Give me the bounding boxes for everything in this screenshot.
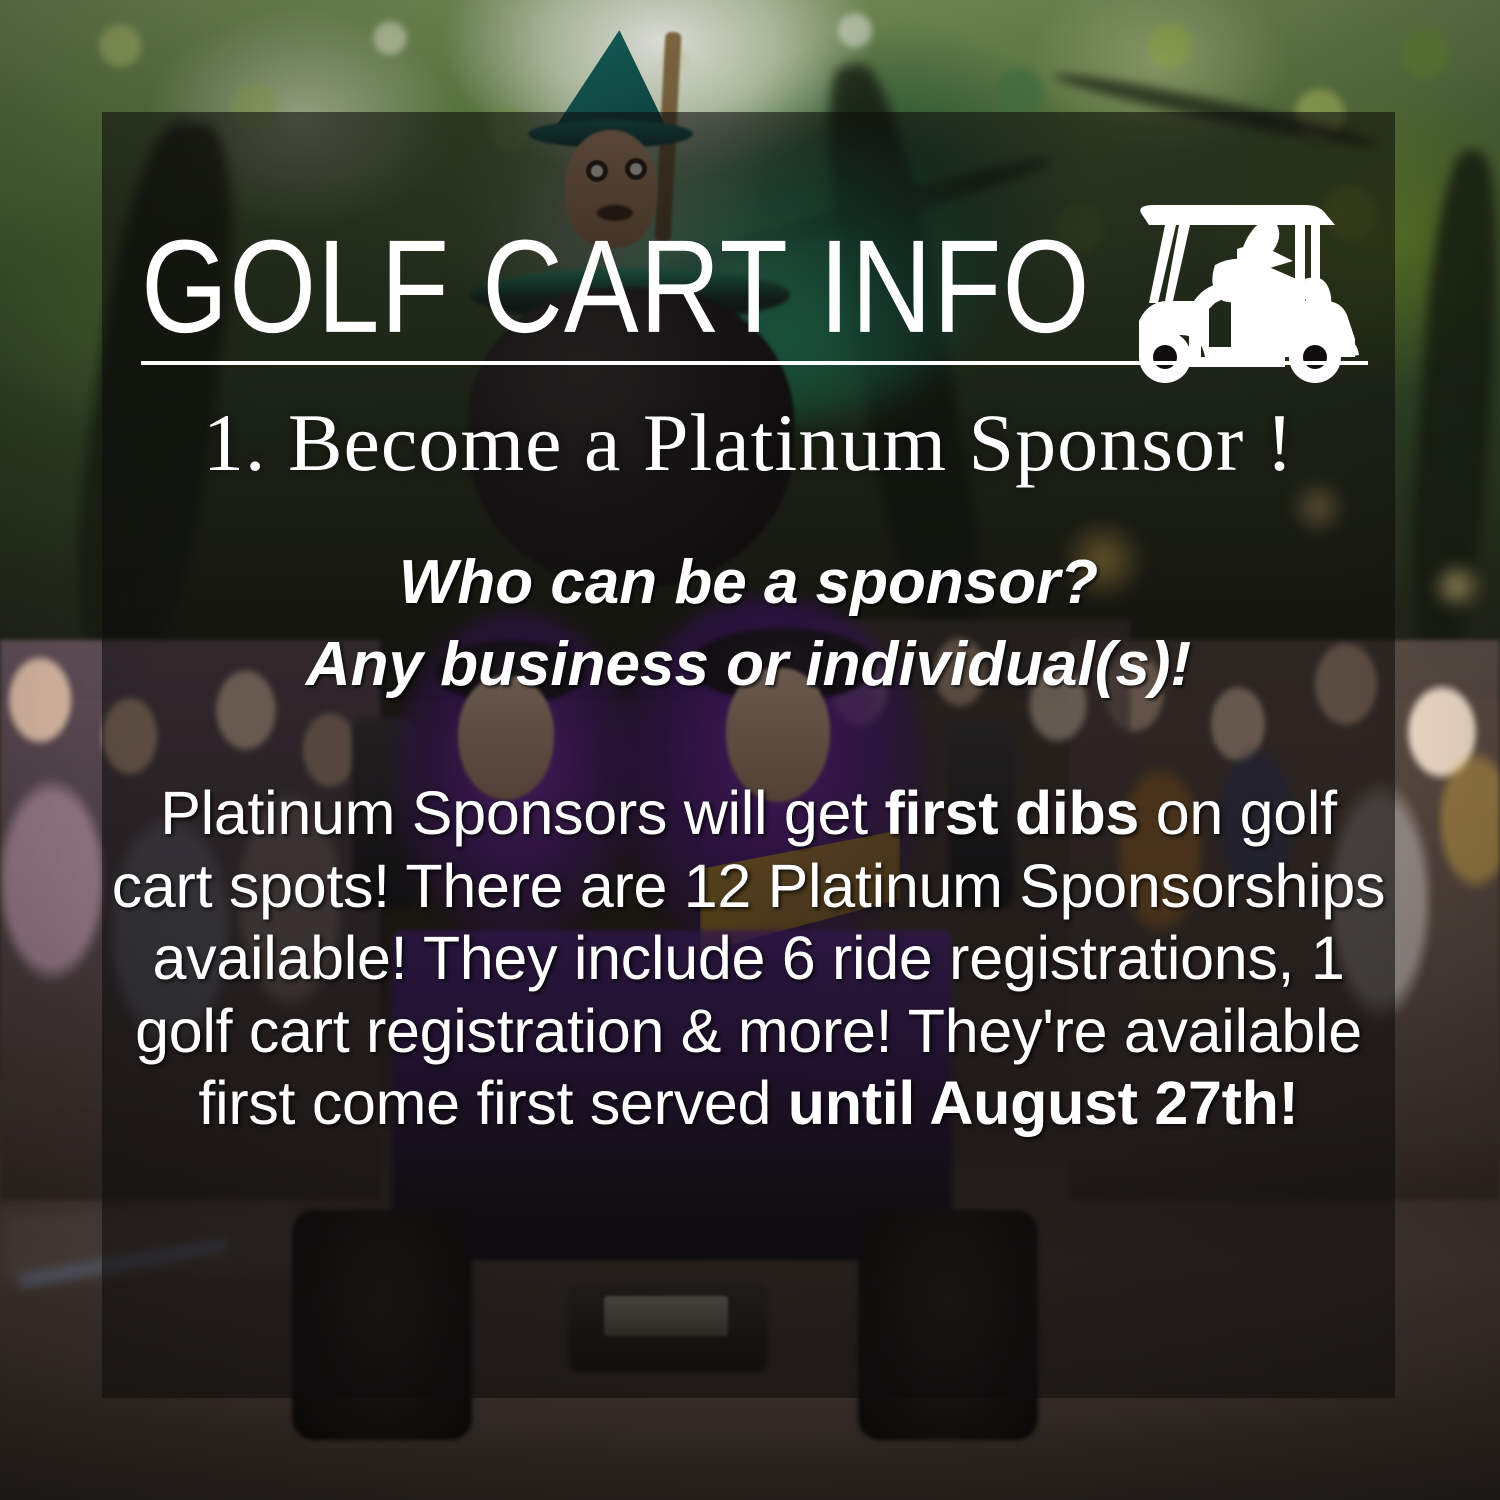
body-emphasis-deadline: until August 27th! [788,1069,1299,1137]
sponsor-question-line-2: Any business or individual(s)! [102,624,1395,706]
body-paragraph: Platinum Sponsors will get first dibs on… [102,777,1395,1140]
street-lamp-glow-3 [1432,560,1482,612]
body-part-1: Platinum Sponsors will get [160,779,884,847]
page-title: GOLF CART INFO [141,221,1091,353]
poster-graphic: GOLF CART INFO [0,0,1500,1500]
script-heading: 1. Become a Platinum Sponsor ! [102,402,1395,484]
sponsor-question: Who can be a sponsor? Any business or in… [102,542,1395,706]
header-divider [141,361,1368,365]
body-emphasis-first-dibs: first dibs [884,779,1139,847]
sponsor-question-line-1: Who can be a sponsor? [102,542,1395,624]
witch-driving-golf-cart-icon [1119,187,1369,387]
poster-content: GOLF CART INFO [102,112,1395,1398]
